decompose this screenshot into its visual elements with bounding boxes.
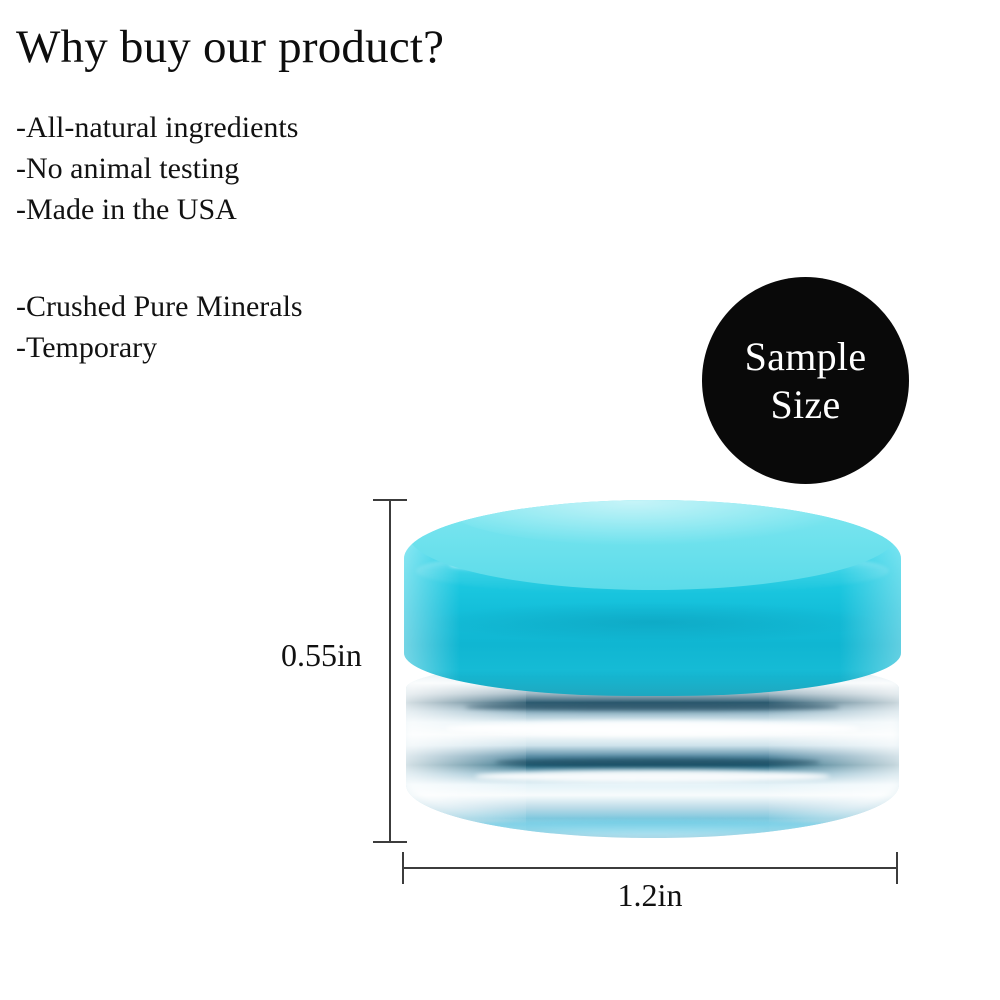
benefits-list-primary: -All-natural ingredients -No animal test… (16, 107, 298, 230)
benefit-item: -Made in the USA (16, 189, 298, 230)
benefit-item: -All-natural ingredients (16, 107, 298, 148)
base-reflection-light-band (445, 721, 859, 736)
height-dimension-cap-bottom (373, 841, 407, 843)
lid-shading (429, 602, 876, 642)
benefit-item: -Temporary (16, 327, 303, 368)
lid-bottom-shading (404, 670, 901, 696)
page-title: Why buy our product? (16, 18, 444, 76)
badge-label-line-2: Size (770, 381, 840, 429)
badge-label-line-1: Sample (745, 333, 867, 381)
infographic-canvas: Why buy our product? -All-natural ingred… (0, 0, 1000, 1000)
benefits-list-secondary: -Crushed Pure Minerals -Temporary (16, 286, 303, 368)
product-jar-image (404, 500, 901, 842)
benefit-item: -No animal testing (16, 148, 298, 189)
base-reflection-dark-band (495, 758, 820, 767)
jar-lid (404, 500, 901, 696)
benefit-item: -Crushed Pure Minerals (16, 286, 303, 327)
base-bottom-rim (436, 820, 870, 836)
height-dimension-line (389, 499, 391, 843)
height-dimension-label: 0.55in (281, 636, 362, 674)
width-dimension-line (402, 867, 898, 869)
base-reflection-dark-band (465, 703, 840, 711)
width-dimension-label: 1.2in (402, 876, 898, 914)
lid-top-sheen (448, 500, 858, 546)
sample-size-badge: Sample Size (702, 277, 909, 484)
